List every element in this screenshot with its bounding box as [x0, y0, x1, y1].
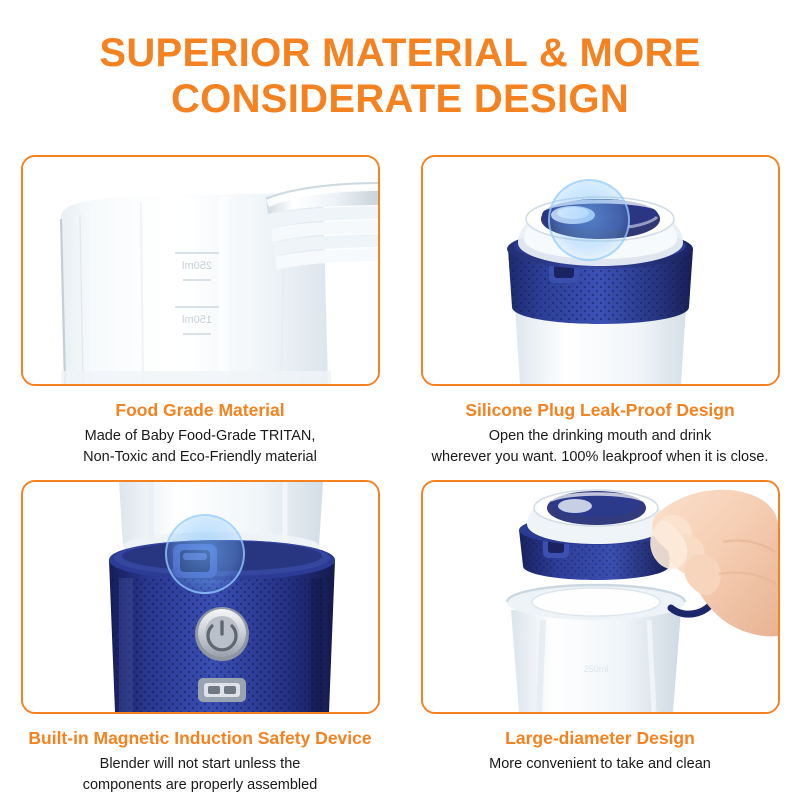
- feature-body-silicone-plug-leak-proof-design: Open the drinking mouth and drink wherev…: [416, 426, 784, 468]
- feature-body-line-1: Made of Baby Food-Grade TRITAN,: [16, 426, 384, 447]
- feature-body-line-1: Open the drinking mouth and drink: [416, 426, 784, 447]
- feature-grid: 250ml 150ml Food Grade Material Made of …: [0, 155, 800, 800]
- feature-title-built-in-magnetic-induction-safety-device: Built-in Magnetic Induction Safety Devic…: [16, 728, 384, 748]
- feature-body-large-diameter-design: More convenient to take and clean: [416, 754, 784, 775]
- feature-body-line-1: More convenient to take and clean: [416, 754, 784, 775]
- feature-card-built-in-magnetic-induction-safety-device: Built-in Magnetic Induction Safety Devic…: [0, 480, 400, 800]
- feature-title-food-grade-material: Food Grade Material: [16, 400, 384, 420]
- feature-card-silicone-plug-leak-proof-design: Silicone Plug Leak-Proof Design Open the…: [400, 155, 800, 480]
- headline-line-2: CONSIDERATE DESIGN: [40, 76, 760, 122]
- blender-base-illustration: [23, 482, 378, 712]
- feature-body-line-1: Blender will not start unless the: [16, 754, 384, 775]
- feature-card-food-grade-material: 250ml 150ml Food Grade Material Made of …: [0, 155, 400, 480]
- svg-text:150ml: 150ml: [182, 314, 212, 326]
- feature-body-built-in-magnetic-induction-safety-device: Blender will not start unless the compon…: [16, 754, 384, 796]
- feature-body-line-2: Non-Toxic and Eco-Friendly material: [16, 447, 384, 468]
- page-title: SUPERIOR MATERIAL & MORE CONSIDERATE DES…: [0, 0, 800, 122]
- feature-body-line-2: wherever you want. 100% leakproof when i…: [416, 447, 784, 468]
- feature-title-large-diameter-design: Large-diameter Design: [416, 728, 784, 748]
- feature-body-food-grade-material: Made of Baby Food-Grade TRITAN, Non-Toxi…: [16, 426, 384, 468]
- svg-text:250ml: 250ml: [583, 664, 608, 674]
- feature-title-silicone-plug-leak-proof-design: Silicone Plug Leak-Proof Design: [416, 400, 784, 420]
- feature-body-line-2: components are properly assembled: [16, 775, 384, 796]
- feature-card-large-diameter-design: 250ml: [400, 480, 800, 800]
- headline-line-1: SUPERIOR MATERIAL & MORE: [40, 30, 760, 76]
- hand-lifting-lid-illustration: 250ml: [423, 482, 778, 712]
- feature-image-built-in-magnetic-induction-safety-device: [21, 480, 380, 714]
- svg-text:250ml: 250ml: [182, 260, 212, 272]
- tritan-cup-illustration: 250ml 150ml: [23, 157, 378, 384]
- feature-image-silicone-plug-leak-proof-design: [421, 155, 780, 386]
- feature-image-large-diameter-design: 250ml: [421, 480, 780, 714]
- feature-image-food-grade-material: 250ml 150ml: [21, 155, 380, 386]
- blender-lid-illustration: [423, 157, 778, 384]
